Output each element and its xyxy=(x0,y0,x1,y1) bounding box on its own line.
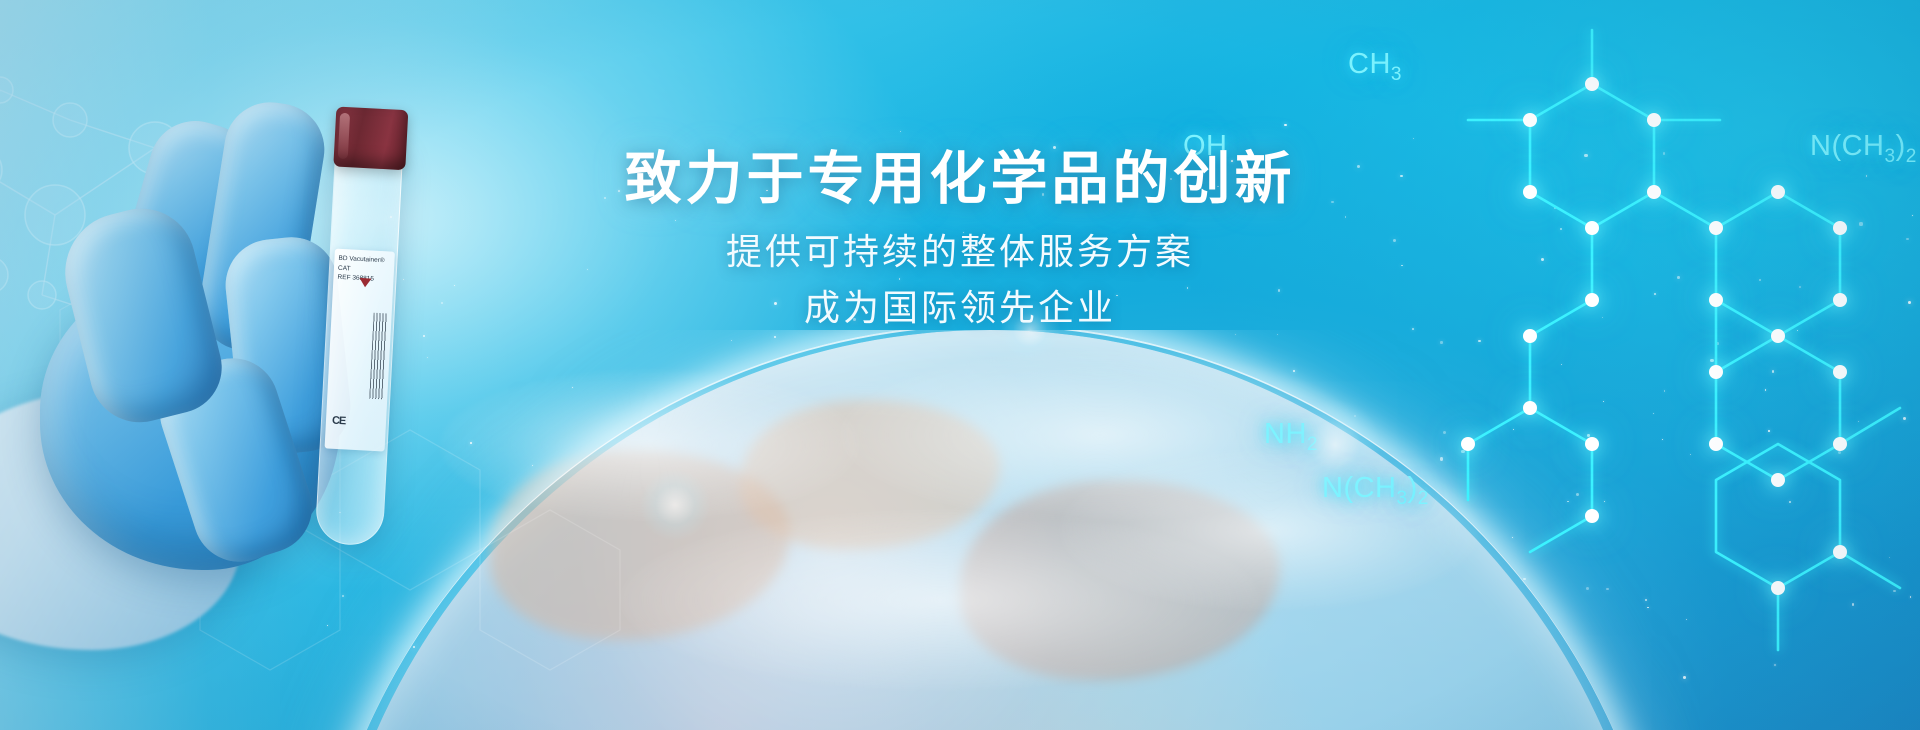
background-vignette xyxy=(0,0,1920,730)
hero-banner: CH3 OH N(CH3)2 NH2 N(CH3)2 BD Vacutainer… xyxy=(0,0,1920,730)
